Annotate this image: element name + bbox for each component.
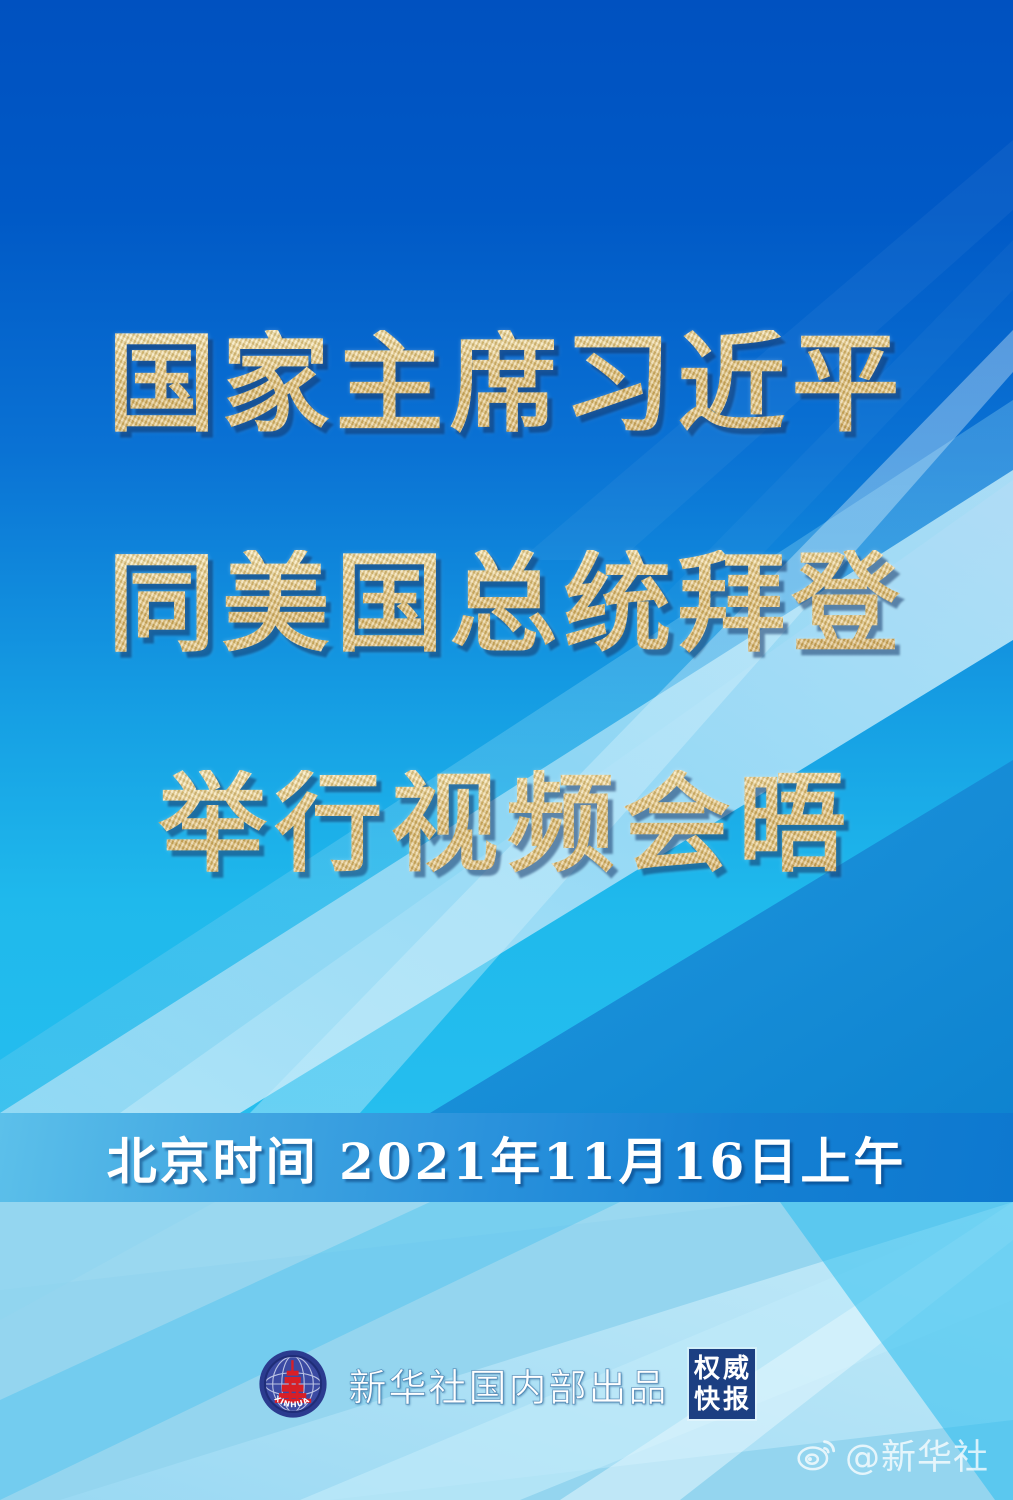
poster: 国家主席习近平 同美国总统拜登 举行视频会晤 北京时间 2021年11月16日上… xyxy=(0,0,1013,1500)
xinhua-logo-icon: XINHUA xyxy=(258,1349,328,1419)
subtitle-text: 北京时间 2021年11月16日上午 xyxy=(0,1118,1013,1198)
stamp-char-1: 权 xyxy=(694,1356,720,1382)
headline-line-1: 国家主席习近平 xyxy=(0,330,1013,438)
weibo-watermark: @新华社 xyxy=(797,1429,989,1480)
headline-line-2: 同美国总统拜登 xyxy=(0,550,1013,658)
headline-block: 国家主席习近平 同美国总统拜登 举行视频会晤 xyxy=(0,330,1013,878)
weibo-icon xyxy=(797,1438,837,1472)
stamp-char-4: 报 xyxy=(723,1387,749,1413)
credit-row: XINHUA 新华社国内部出品 权 威 快 报 xyxy=(0,1342,1013,1426)
authority-stamp: 权 威 快 报 xyxy=(689,1349,755,1419)
stamp-char-2: 威 xyxy=(723,1356,749,1382)
producer-label: 新华社国内部出品 xyxy=(348,1357,668,1412)
headline-line-3: 举行视频会晤 xyxy=(0,770,1013,878)
weibo-handle: @新华社 xyxy=(845,1429,989,1480)
stamp-char-3: 快 xyxy=(694,1387,720,1413)
